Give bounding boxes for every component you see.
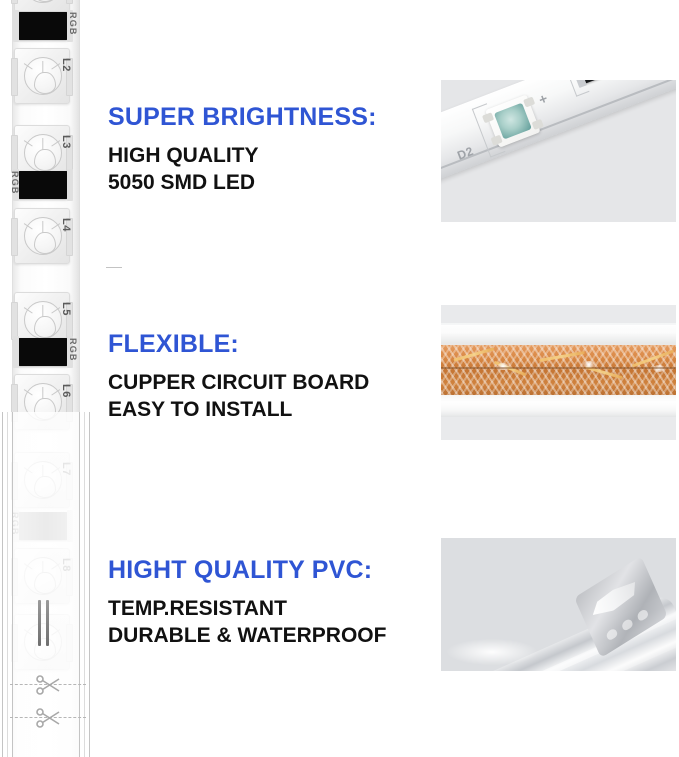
rgb-component-1 (18, 12, 68, 40)
copper-circuit-board (441, 345, 676, 395)
led-pad-left (11, 624, 18, 662)
led-pad-right (66, 624, 73, 662)
rgb-component-4 (18, 512, 68, 540)
feature-body-line-1: HIGH QUALITY (108, 143, 438, 169)
tube-top-highlight (441, 325, 676, 335)
led-pad-left (11, 135, 18, 173)
rgb-label-1: RGB (68, 12, 78, 36)
rgb-terminal-right (67, 510, 73, 542)
led-pad-left (11, 218, 18, 256)
led-label-l4: L4 (60, 218, 72, 232)
feature-body-pvc: TEMP.RESISTANT DURABLE & WATERPROOF (108, 596, 438, 649)
sleeve-edge-mid-left (7, 412, 8, 757)
feature-body-line-1: TEMP.RESISTANT (108, 596, 438, 622)
feature-body-line-2: EASY TO INSTALL (108, 397, 438, 423)
feature-title-flexible: FLEXIBLE: (108, 331, 438, 357)
led-package-l8 (14, 548, 70, 604)
led-package-l2 (14, 48, 70, 104)
led-label-l5: L5 (60, 302, 72, 316)
pcb-edge-line (441, 80, 676, 178)
led-lens-icon (24, 0, 62, 3)
rgb-component-3 (18, 338, 68, 366)
smd-notch (482, 112, 494, 123)
led-package-l7 (14, 452, 70, 508)
led-label-l2: L2 (60, 58, 72, 72)
sleeve-inner-ridge (621, 618, 634, 632)
rgb-terminal-left (13, 10, 19, 42)
cut-mark-1 (10, 674, 86, 696)
pvc-sleeve-end-photo (441, 538, 676, 671)
led-lens-icon (24, 134, 62, 172)
feature-body-flexible: CUPPER CIRCUIT BOARD EASY TO INSTALL (108, 370, 438, 423)
led-package-l4 (14, 208, 70, 264)
feature-body-line-1: CUPPER CIRCUIT BOARD (108, 370, 438, 396)
rgb-terminal-right (67, 169, 73, 201)
infographic-page: RGB L2 L3 RGB (0, 0, 679, 757)
feature-body-super-brightness: HIGH QUALITY 5050 SMD LED (108, 143, 438, 196)
smd-5050-led-chip (485, 95, 540, 148)
copper-trace (453, 347, 494, 361)
solder-wire-left (38, 600, 41, 646)
sleeve-inner-ridge (605, 627, 618, 641)
led-pad-left (11, 302, 18, 340)
led-lens-icon (24, 557, 62, 595)
sleeve-edge-mid-right (84, 412, 85, 757)
led-lens-icon (24, 57, 62, 95)
silkscreen-polarity-label: + (536, 90, 550, 108)
tube-bottom-highlight (441, 401, 676, 417)
cut-mark-2 (10, 707, 86, 729)
led-strip-diagram: RGB L2 L3 RGB (0, 0, 92, 757)
sleeve-edge-outer-right (89, 412, 90, 757)
pcb-strip: R11 D2 + (441, 80, 676, 186)
scissors-icon (36, 707, 62, 729)
led-label-l8: L8 (60, 558, 72, 572)
led-pad-left (11, 558, 18, 596)
led-pad-left (11, 462, 18, 500)
rgb-terminal-left (13, 336, 19, 368)
led-macro-photo: R11 D2 + (441, 80, 676, 222)
led-package-partial-top (14, 0, 70, 12)
led-lens-icon (24, 383, 62, 421)
copper-trace (632, 350, 674, 368)
led-pad-left (11, 384, 18, 422)
scissors-icon (36, 674, 62, 696)
copper-trace (539, 351, 585, 362)
solder-wire-pads (36, 600, 52, 646)
feature-block-flexible: FLEXIBLE: CUPPER CIRCUIT BOARD EASY TO I… (108, 331, 438, 423)
feature-block-super-brightness: SUPER BRIGHTNESS: HIGH QUALITY 5050 SMD … (108, 104, 438, 196)
led-package-l6 (14, 374, 70, 430)
led-phosphor-surface (494, 103, 532, 140)
feature-block-pvc: HIGHT QUALITY PVC: TEMP.RESISTANT DURABL… (108, 557, 438, 649)
cut-shard-highlight (588, 577, 640, 621)
led-label-l7: L7 (60, 462, 72, 476)
smd-notch (523, 96, 535, 107)
solder-wire-right (46, 600, 49, 646)
rgb-label-4: RGB (10, 512, 20, 536)
feature-title-super-brightness: SUPER BRIGHTNESS: (108, 104, 438, 130)
led-lens-icon (24, 461, 62, 499)
led-pad-right (66, 0, 73, 4)
stray-dash-mark (106, 267, 122, 268)
rgb-component-2 (18, 171, 68, 199)
silkscreen-d2-label: D2 (455, 144, 475, 163)
rgb-label-3: RGB (68, 338, 78, 362)
led-pad-left (11, 58, 18, 96)
copper-circuit-photo (441, 305, 676, 440)
led-pad-left (11, 0, 18, 4)
copper-seam-line (441, 367, 676, 369)
feature-title-pvc: HIGHT QUALITY PVC: (108, 557, 438, 583)
feature-body-line-2: DURABLE & WATERPROOF (108, 623, 438, 649)
rgb-label-2: RGB (10, 171, 20, 195)
smd-resistor (578, 80, 616, 84)
led-label-l6: L6 (60, 384, 72, 398)
sleeve-light-glow (447, 639, 537, 665)
sleeve-inner-ridge (636, 608, 649, 622)
led-lens-icon (24, 301, 62, 339)
led-label-l3: L3 (60, 135, 72, 149)
smd-notch (491, 135, 503, 146)
led-lens-icon (24, 217, 62, 255)
sleeve-edge-outer-left (2, 412, 3, 757)
feature-body-line-2: 5050 SMD LED (108, 170, 438, 196)
